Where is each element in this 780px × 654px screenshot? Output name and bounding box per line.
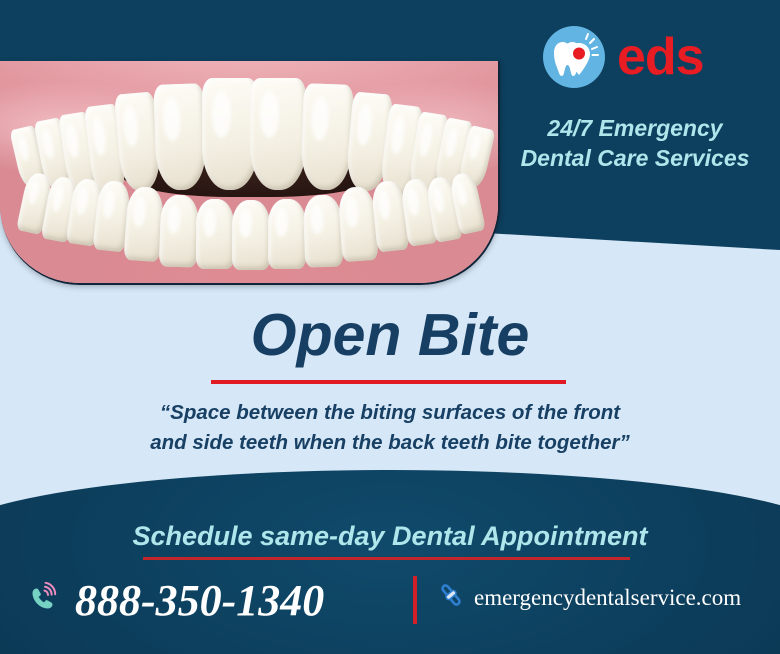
- website-link[interactable]: emergencydentalservice.com: [438, 582, 741, 613]
- headline-underline: [211, 380, 566, 384]
- tooth-map-pin-icon: [543, 26, 605, 88]
- tagline-line-1: 24/7 Emergency: [490, 113, 780, 143]
- brand-logo[interactable]: eds: [543, 26, 704, 88]
- quote-line-1: “Space between the biting surfaces of th…: [90, 398, 690, 428]
- cta-text: Schedule same-day Dental Appointment: [0, 523, 780, 550]
- tagline-line-2: Dental Care Services: [490, 143, 780, 173]
- phone-number: 888-350-1340: [75, 579, 324, 623]
- website-url: emergencydentalservice.com: [474, 586, 741, 609]
- poster-canvas: eds 24/7 Emergency Dental Care Services …: [0, 0, 780, 654]
- photo-inner: [0, 61, 498, 283]
- contact-divider: [413, 576, 417, 624]
- open-bite-photo: [0, 61, 500, 285]
- quote-line-2: and side teeth when the back teeth bite …: [90, 428, 690, 458]
- phone-link[interactable]: 888-350-1340: [27, 575, 324, 627]
- cta-underline: [143, 557, 630, 560]
- tagline: 24/7 Emergency Dental Care Services: [490, 113, 780, 174]
- definition-quote: “Space between the biting surfaces of th…: [90, 398, 690, 457]
- chain-link-icon: [438, 582, 464, 613]
- page-title: Open Bite: [0, 306, 780, 365]
- logo-wordmark: eds: [617, 31, 704, 83]
- phone-ringing-icon: [27, 582, 61, 621]
- contact-row: 888-350-1340 emergencydentalservice.com: [0, 575, 780, 630]
